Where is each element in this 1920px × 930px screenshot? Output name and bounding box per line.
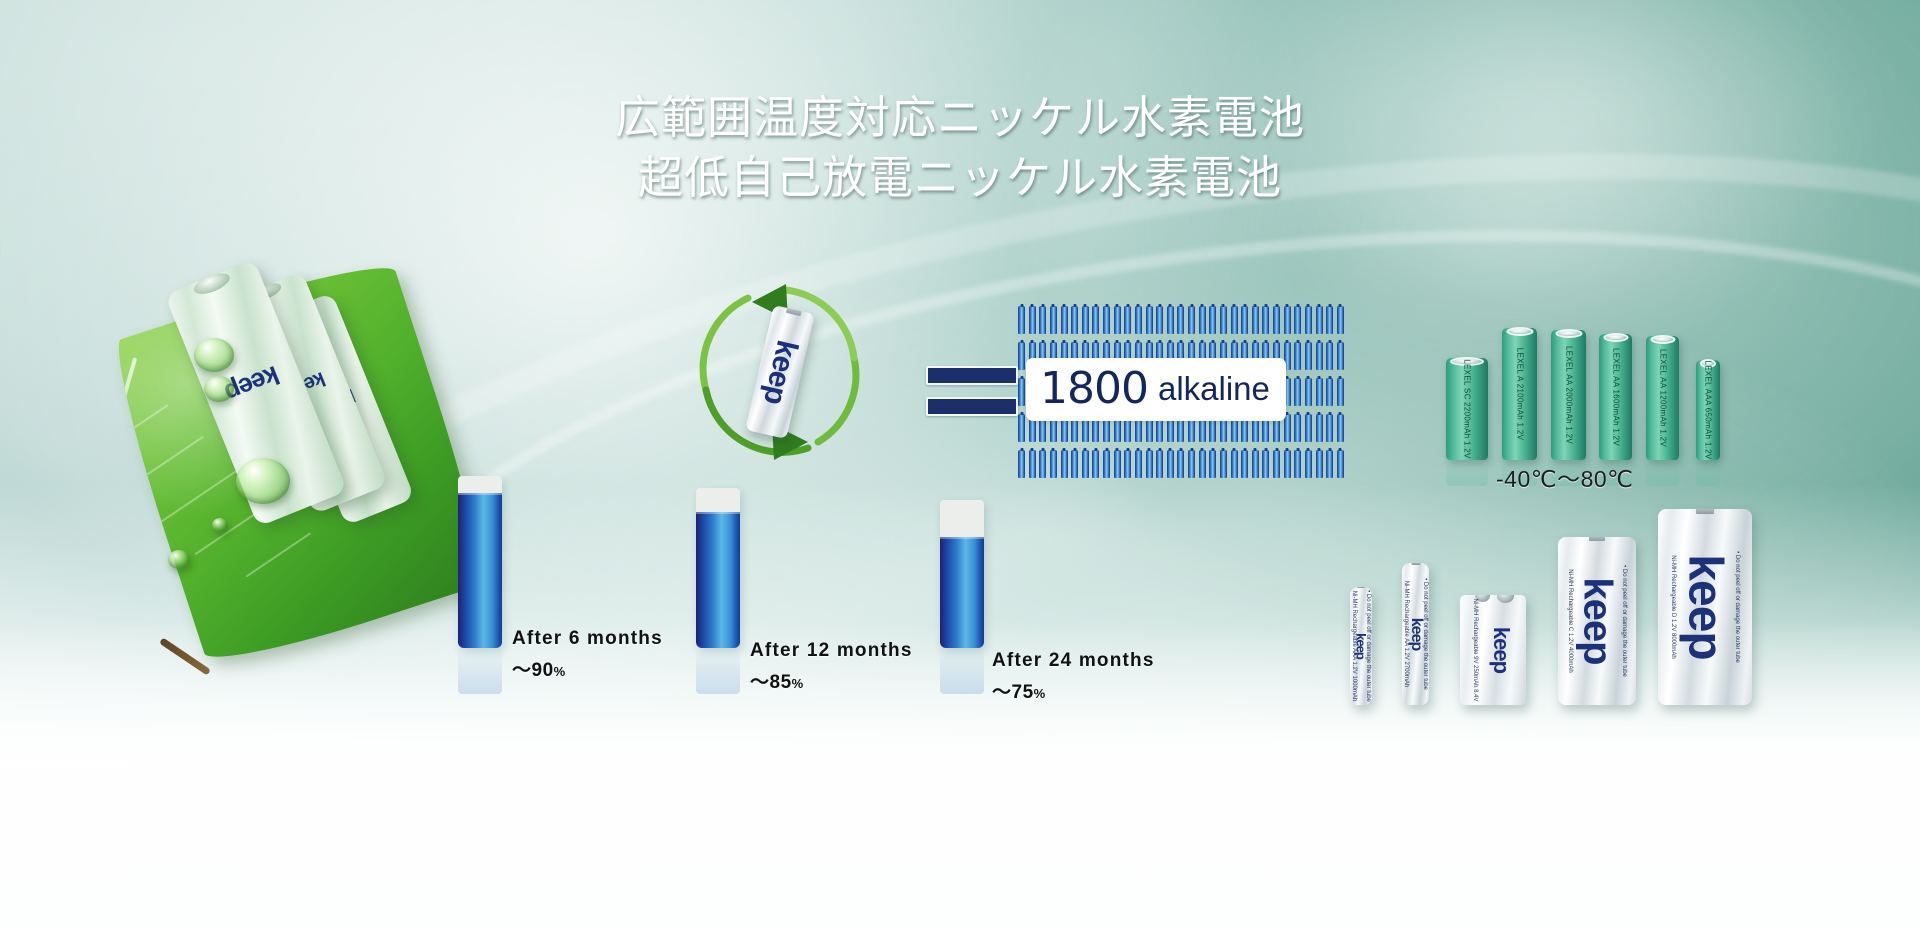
mini-battery-icon bbox=[1316, 306, 1323, 334]
retention-bar-reflection bbox=[940, 648, 984, 694]
mini-battery-icon bbox=[1294, 306, 1301, 334]
mini-battery-icon bbox=[1092, 450, 1099, 478]
mini-battery-icon bbox=[1114, 450, 1121, 478]
mini-battery-icon bbox=[1061, 450, 1068, 478]
mini-battery-icon bbox=[1326, 342, 1333, 370]
retention-bar bbox=[458, 476, 502, 648]
mini-battery-icon bbox=[1082, 306, 1089, 334]
mini-battery-icon bbox=[1305, 378, 1312, 406]
mini-battery-icon bbox=[1326, 450, 1333, 478]
infographic-banner: 広範囲温度対応ニッケル水素電池 超低自己放電ニッケル水素電池 keep keep… bbox=[0, 0, 1920, 930]
mini-battery-icon bbox=[1316, 342, 1323, 370]
mini-battery-icon bbox=[1177, 306, 1184, 334]
mini-battery-icon bbox=[1294, 414, 1301, 442]
mini-battery-icon bbox=[1326, 414, 1333, 442]
mini-battery-icon bbox=[1252, 306, 1259, 334]
mini-battery-icon bbox=[1018, 378, 1025, 406]
mini-battery-icon bbox=[1167, 450, 1174, 478]
alkaline-equivalence-block: 1800alkaline bbox=[1018, 306, 1344, 478]
mini-battery-icon bbox=[1284, 450, 1291, 478]
battery-terminal bbox=[471, 476, 489, 478]
mini-battery-icon bbox=[1241, 450, 1248, 478]
mini-battery-icon bbox=[1039, 306, 1046, 334]
battery-terminal bbox=[709, 488, 727, 490]
mini-battery-icon bbox=[1316, 414, 1323, 442]
retention-bar-fill bbox=[458, 493, 502, 648]
alkaline-grid-row bbox=[1018, 306, 1344, 334]
mini-battery-icon bbox=[1273, 306, 1280, 334]
mini-battery-icon bbox=[1337, 414, 1344, 442]
headline-line-2: 超低自己放電ニッケル水素電池 bbox=[0, 148, 1920, 208]
mini-battery-icon bbox=[1146, 306, 1153, 334]
mini-battery-icon bbox=[1231, 306, 1238, 334]
mini-battery-icon bbox=[1316, 450, 1323, 478]
retention-period: After 12 months bbox=[750, 640, 913, 662]
mini-battery-icon bbox=[1082, 450, 1089, 478]
mini-battery-icon bbox=[1305, 414, 1312, 442]
mini-battery-icon bbox=[1177, 450, 1184, 478]
mini-battery-icon bbox=[1316, 378, 1323, 406]
page-title: 広範囲温度対応ニッケル水素電池 超低自己放電ニッケル水素電池 bbox=[0, 88, 1920, 208]
retention-bar-label: After 6 months～90% bbox=[512, 628, 663, 682]
mini-battery-icon bbox=[1220, 306, 1227, 334]
mini-battery-icon bbox=[1114, 306, 1121, 334]
retention-value: ～90% bbox=[512, 655, 663, 682]
retention-unit: % bbox=[792, 676, 804, 691]
mini-battery-icon bbox=[1262, 306, 1269, 334]
retention-bar-reflection bbox=[696, 648, 740, 694]
mini-battery-icon bbox=[1050, 306, 1057, 334]
mini-battery-icon bbox=[1146, 450, 1153, 478]
mini-battery-icon bbox=[1209, 450, 1216, 478]
mini-battery-icon bbox=[1305, 342, 1312, 370]
equals-bar-bottom bbox=[926, 397, 1018, 416]
mini-battery-icon bbox=[1252, 450, 1259, 478]
mini-battery-icon bbox=[1135, 450, 1142, 478]
mini-battery-icon bbox=[1029, 450, 1036, 478]
retention-bar-fill bbox=[696, 512, 740, 648]
battery-terminal bbox=[953, 500, 971, 502]
mini-battery-icon bbox=[1337, 378, 1344, 406]
mini-battery-icon bbox=[1220, 450, 1227, 478]
retention-period: After 24 months bbox=[992, 650, 1155, 672]
mini-battery-icon bbox=[1294, 450, 1301, 478]
mini-battery-icon bbox=[1018, 342, 1025, 370]
mini-battery-icon bbox=[1018, 414, 1025, 442]
mini-battery-icon bbox=[1305, 450, 1312, 478]
alkaline-count-label: 1800alkaline bbox=[1026, 358, 1286, 421]
mini-battery-icon bbox=[1294, 342, 1301, 370]
headline-line-1: 広範囲温度対応ニッケル水素電池 bbox=[0, 88, 1920, 148]
mini-battery-icon bbox=[1284, 414, 1291, 442]
mini-battery-icon bbox=[1209, 306, 1216, 334]
mini-battery-icon bbox=[1199, 450, 1206, 478]
mini-battery-icon bbox=[1231, 450, 1238, 478]
mini-battery-icon bbox=[1284, 306, 1291, 334]
retention-bar-label: After 24 months～75% bbox=[992, 650, 1155, 704]
mini-battery-icon bbox=[1188, 450, 1195, 478]
retention-bar-reflection bbox=[458, 648, 502, 694]
mini-battery-icon bbox=[1071, 450, 1078, 478]
mini-battery-icon bbox=[1305, 306, 1312, 334]
equals-icon bbox=[926, 366, 1018, 416]
retention-bar bbox=[940, 500, 984, 648]
mini-battery-icon bbox=[1241, 306, 1248, 334]
mini-battery-icon bbox=[1337, 342, 1344, 370]
equals-bar-top bbox=[926, 366, 1018, 385]
mini-battery-icon bbox=[1092, 306, 1099, 334]
mini-battery-icon bbox=[1337, 306, 1344, 334]
mini-battery-icon bbox=[1326, 378, 1333, 406]
mini-battery-icon bbox=[1018, 306, 1025, 334]
mini-battery-icon bbox=[1337, 450, 1344, 478]
retention-bar-label: After 12 months～85% bbox=[750, 640, 913, 694]
retention-unit: % bbox=[1034, 686, 1046, 701]
alkaline-unit: alkaline bbox=[1158, 370, 1270, 407]
mini-battery-icon bbox=[1018, 450, 1025, 478]
mini-battery-icon bbox=[1167, 306, 1174, 334]
mini-battery-icon bbox=[1039, 450, 1046, 478]
mini-battery-icon bbox=[1262, 450, 1269, 478]
retention-period: After 6 months bbox=[512, 628, 663, 650]
mini-battery-icon bbox=[1103, 450, 1110, 478]
mini-battery-icon bbox=[1294, 378, 1301, 406]
mini-battery-icon bbox=[1156, 306, 1163, 334]
mini-battery-icon bbox=[1061, 306, 1068, 334]
mini-battery-icon bbox=[1124, 306, 1131, 334]
mini-battery-icon bbox=[1029, 306, 1036, 334]
mini-battery-icon bbox=[1124, 450, 1131, 478]
mini-battery-icon bbox=[1050, 450, 1057, 478]
retention-value: ～85% bbox=[750, 667, 913, 694]
mini-battery-icon bbox=[1103, 306, 1110, 334]
mini-battery-icon bbox=[1156, 450, 1163, 478]
retention-bar-fill bbox=[940, 537, 984, 648]
alkaline-grid-row bbox=[1018, 450, 1344, 478]
retention-unit: % bbox=[554, 664, 566, 679]
mini-battery-icon bbox=[1071, 306, 1078, 334]
mini-battery-icon bbox=[1326, 306, 1333, 334]
mini-battery-icon bbox=[1199, 306, 1206, 334]
recycle-arrows-icon: keep bbox=[690, 282, 870, 462]
mini-battery-icon bbox=[1135, 306, 1142, 334]
mini-battery-icon bbox=[1188, 306, 1195, 334]
alkaline-count: 1800 bbox=[1040, 363, 1148, 414]
retention-bar bbox=[696, 488, 740, 648]
mini-battery-icon bbox=[1273, 450, 1280, 478]
retention-value: ～75% bbox=[992, 677, 1155, 704]
